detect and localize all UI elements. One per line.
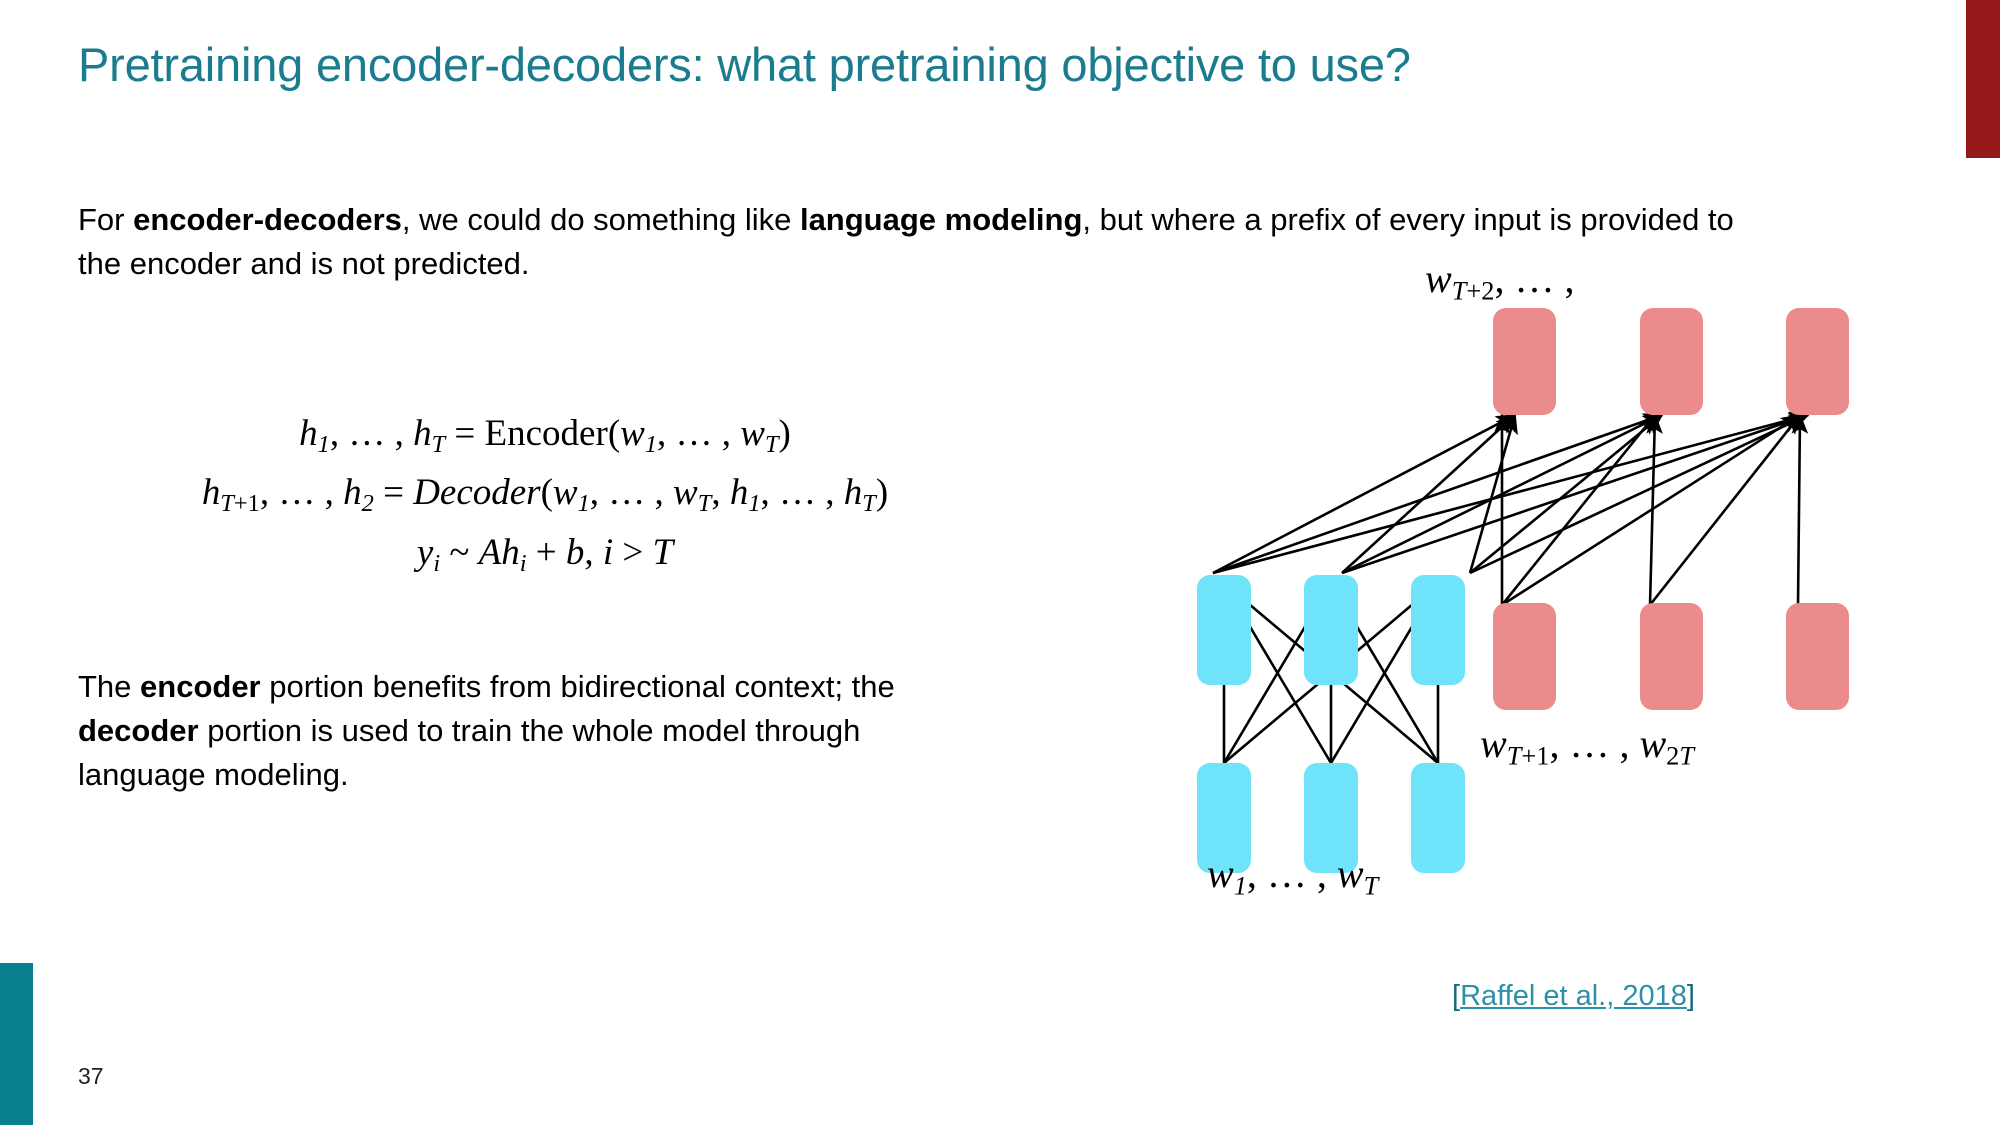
encoder-block-upper-2 — [1304, 575, 1358, 685]
decoder-block-lower-2 — [1640, 603, 1703, 710]
citation: [Raffel et al., 2018] — [1452, 980, 1695, 1013]
encoder-block-upper-3 — [1411, 575, 1465, 685]
decoder-bottom-label: wT+1, … , w2T — [1480, 720, 1694, 771]
equation-line-encoder: h1, … , hT = Encoder(w1, … , wT) — [40, 405, 1050, 464]
citation-link[interactable]: Raffel et al., 2018 — [1460, 980, 1687, 1012]
encoder-block-upper-1 — [1197, 575, 1251, 685]
encoder-bottom-label: w1, … , wT — [1207, 850, 1378, 901]
explanation-paragraph: The encoder portion benefits from bidire… — [78, 665, 958, 797]
accent-bar-top-right — [1966, 0, 2000, 158]
equation-line-output: yi ~ Ahi + b, i > T — [40, 524, 1050, 583]
page-number: 37 — [78, 1063, 104, 1090]
encoder-block-lower-3 — [1411, 763, 1465, 873]
citation-open-bracket: [ — [1452, 980, 1460, 1012]
decoder-block-lower-3 — [1786, 603, 1849, 710]
citation-close-bracket: ] — [1687, 980, 1695, 1012]
accent-bar-bottom-left — [0, 963, 33, 1125]
decoder-block-upper-3 — [1786, 308, 1849, 415]
page-title: Pretraining encoder-decoders: what pretr… — [78, 38, 1878, 92]
encoder-decoder-diagram: wT+2, … , — [1150, 255, 1950, 895]
equation-line-decoder: hT+1, … , h2 = Decoder(w1, … , wT, h1, …… — [40, 464, 1050, 523]
equation-block: h1, … , hT = Encoder(w1, … , wT) hT+1, …… — [40, 405, 1050, 583]
decoder-block-lower-1 — [1493, 603, 1556, 710]
decoder-block-upper-1 — [1493, 308, 1556, 415]
decoder-block-upper-2 — [1640, 308, 1703, 415]
